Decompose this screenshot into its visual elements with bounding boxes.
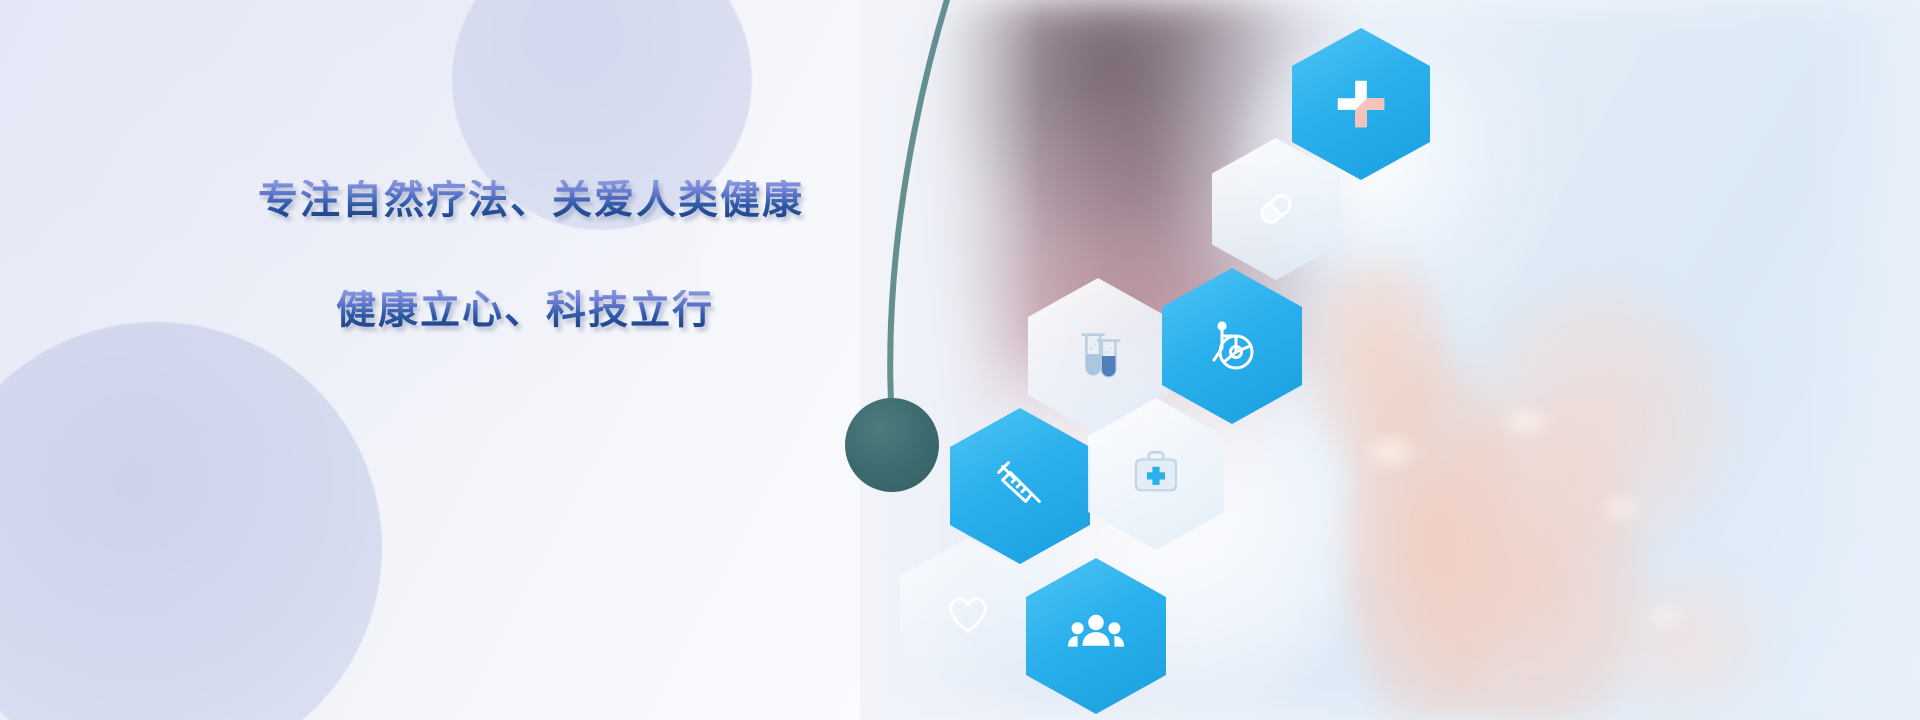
wheelchair-icon: [1200, 314, 1264, 378]
photo-fade-right: [1800, 0, 1920, 720]
decorative-circle-bottom: [0, 322, 382, 720]
background-wash-left: [0, 0, 700, 720]
hex-tile-family-group[interactable]: [1026, 558, 1166, 714]
hero-banner: 专注自然疗法、关爱人类健康 健康立心、科技立行: [0, 0, 1920, 720]
syringe-icon: [989, 455, 1051, 517]
capsule-pill-icon: [1248, 181, 1304, 237]
hex-icon-cluster: [900, 10, 1520, 720]
hex-tile-wheelchair[interactable]: [1162, 268, 1302, 424]
family-group-icon: [1065, 605, 1127, 667]
headline-block: 专注自然疗法、关爱人类健康 健康立心、科技立行: [258, 180, 878, 330]
headline-line-2: 健康立心、科技立行: [336, 290, 878, 330]
medical-cross-icon: [1330, 73, 1392, 135]
heart-icon: [940, 586, 996, 642]
headline-line-1: 专注自然疗法、关爱人类健康: [258, 180, 878, 220]
test-tubes-icon: [1067, 325, 1129, 387]
first-aid-kit-icon: [1127, 445, 1185, 503]
